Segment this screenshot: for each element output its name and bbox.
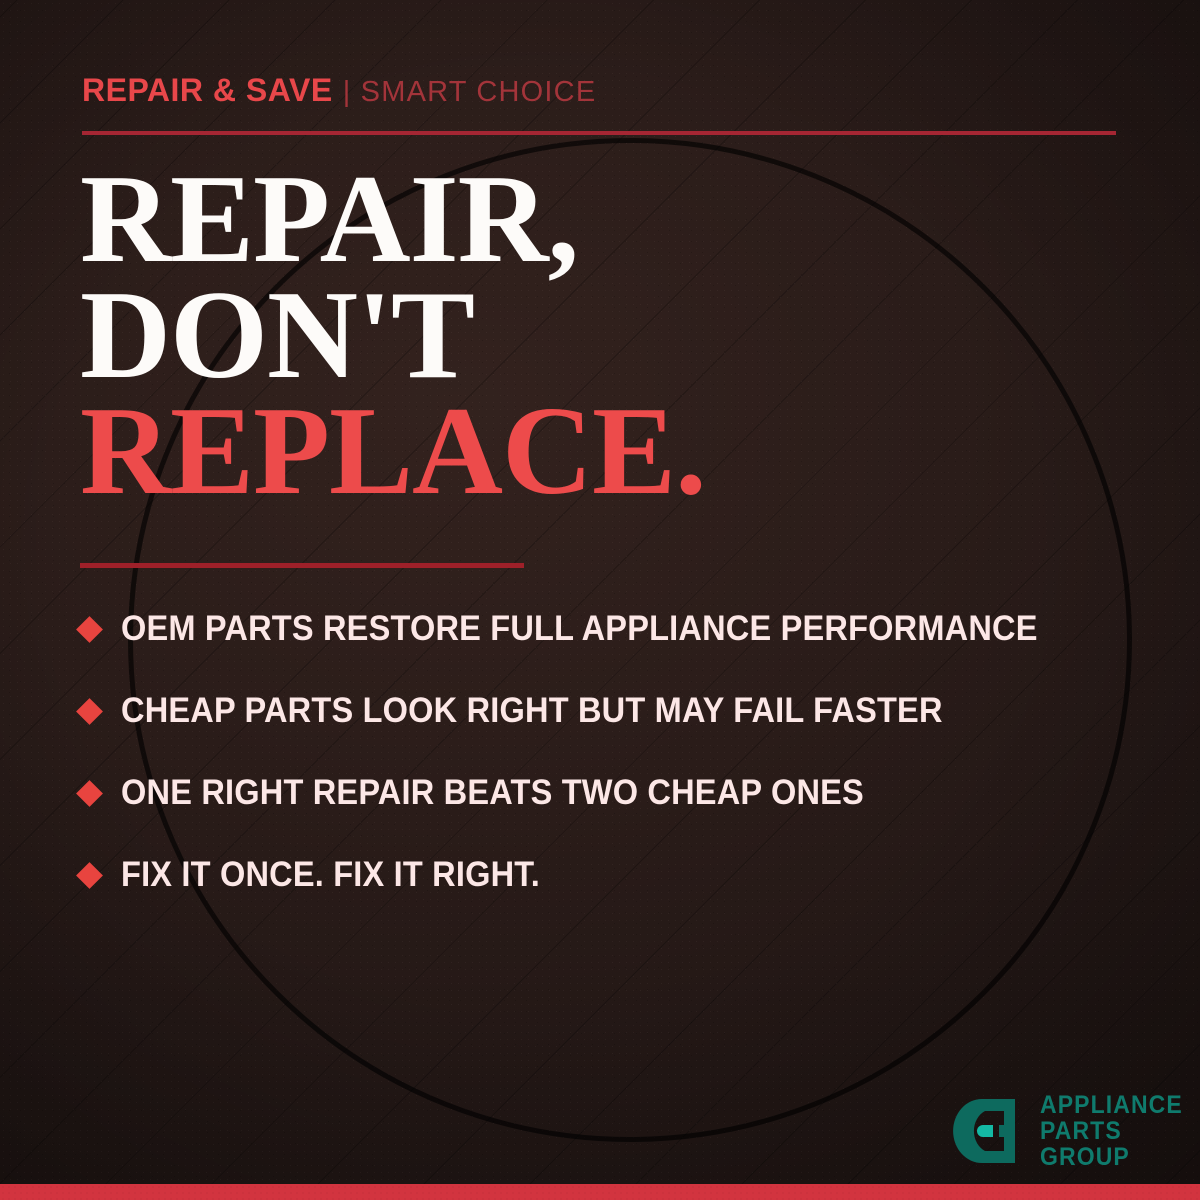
headline-divider: [80, 563, 524, 568]
list-item: ONE RIGHT REPAIR BEATS TWO CHEAP ONES: [80, 752, 1160, 834]
brand-logo-line-3: GROUP: [1040, 1144, 1183, 1170]
page-title: REPAIR, DON'T REPLACE.: [80, 162, 706, 510]
list-item-label: OEM PARTS RESTORE FULL APPLIANCE PERFORM…: [121, 609, 1038, 649]
bottom-accent-bar: [0, 1184, 1200, 1200]
promo-poster: REPAIR & SAVE| SMART CHOICE REPAIR, DON'…: [0, 0, 1200, 1200]
list-item: FIX IT ONCE. FIX IT RIGHT.: [80, 834, 1160, 916]
diamond-icon: [76, 616, 103, 643]
kicker-divider: [82, 131, 1116, 135]
headline-line-3: REPLACE.: [80, 394, 706, 510]
kicker-strong-label: REPAIR & SAVE: [82, 72, 333, 108]
brand-logo-line-2: PARTS: [1040, 1118, 1183, 1144]
list-item-label: ONE RIGHT REPAIR BEATS TWO CHEAP ONES: [121, 773, 864, 813]
headline-line-2: DON'T: [80, 278, 706, 394]
diamond-icon: [76, 862, 103, 889]
brand-logo: APPLIANCE PARTS GROUP: [952, 1092, 1195, 1170]
headline-line-1: REPAIR,: [80, 162, 706, 278]
list-item: CHEAP PARTS LOOK RIGHT BUT MAY FAIL FAST…: [80, 670, 1160, 752]
bottom-bar-texture: [0, 1184, 1200, 1200]
list-item: OEM PARTS RESTORE FULL APPLIANCE PERFORM…: [80, 588, 1160, 670]
list-item-label: FIX IT ONCE. FIX IT RIGHT.: [121, 855, 540, 895]
appliance-parts-group-g-mark-icon: [952, 1094, 1026, 1168]
brand-logo-wordmark: APPLIANCE PARTS GROUP: [1040, 1092, 1183, 1170]
kicker-sub-label: | SMART CHOICE: [343, 76, 597, 108]
kicker: REPAIR & SAVE| SMART CHOICE: [82, 74, 596, 107]
list-item-label: CHEAP PARTS LOOK RIGHT BUT MAY FAIL FAST…: [121, 691, 943, 731]
diamond-icon: [76, 698, 103, 725]
poster-content: REPAIR & SAVE| SMART CHOICE REPAIR, DON'…: [0, 0, 1200, 1200]
brand-logo-line-1: APPLIANCE: [1040, 1092, 1183, 1118]
diamond-icon: [76, 780, 103, 807]
benefit-list: OEM PARTS RESTORE FULL APPLIANCE PERFORM…: [80, 588, 1160, 916]
